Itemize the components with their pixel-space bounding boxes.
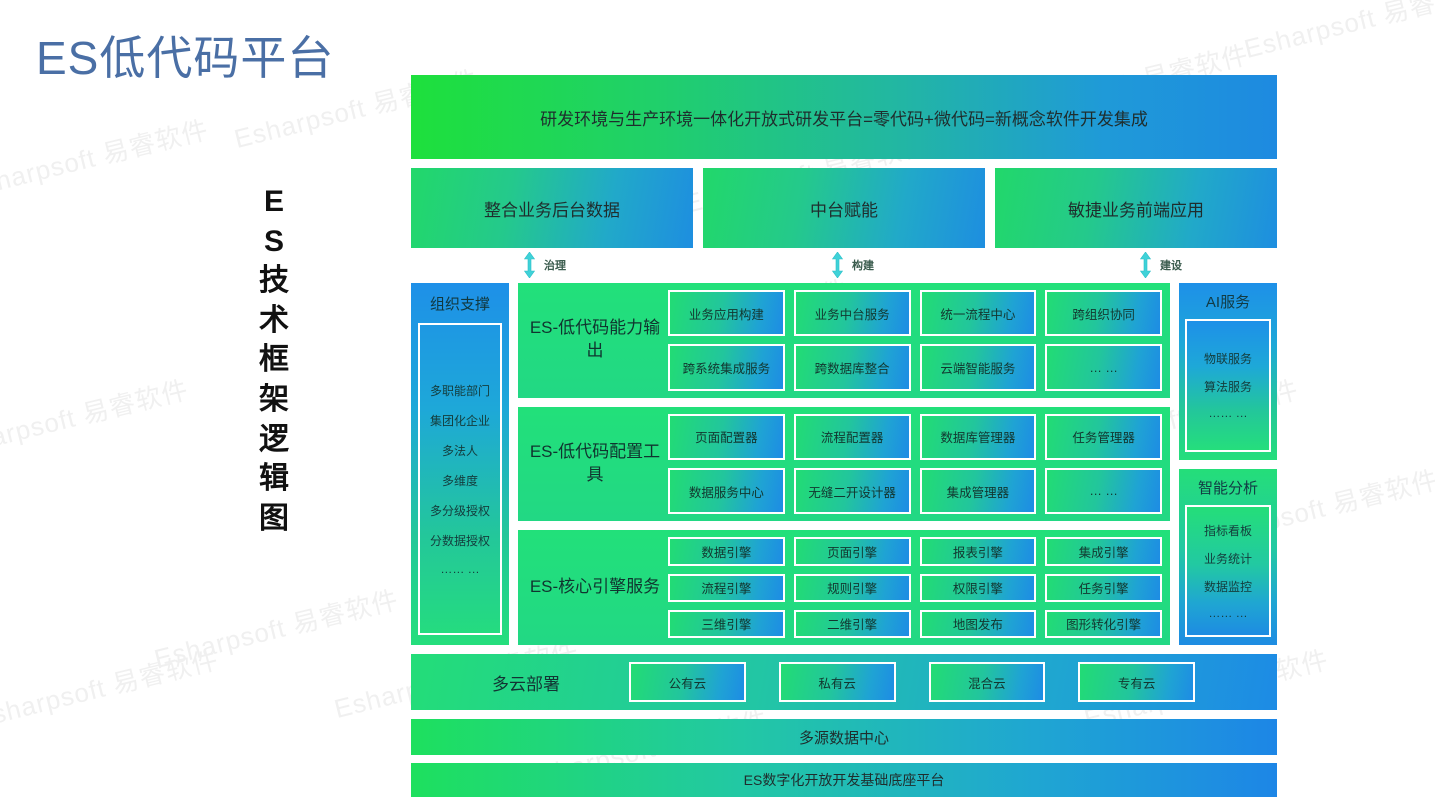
section-grid: 数据引擎页面引擎报表引擎集成引擎流程引擎规则引擎权限引擎任务引擎三维引擎二维引擎… <box>668 537 1162 638</box>
right-panel-item: …… … <box>1208 406 1247 420</box>
capability-cell[interactable]: 报表引擎 <box>920 537 1037 565</box>
section-2: ES-核心引擎服务数据引擎页面引擎报表引擎集成引擎流程引擎规则引擎权限引擎任务引… <box>518 530 1170 645</box>
capability-cell[interactable]: 集成引擎 <box>1045 537 1162 565</box>
vertical-caption-char: 框 <box>244 340 304 380</box>
watermark-text: Esharpsoft 易睿软件 <box>1240 0 1435 66</box>
vertical-caption-char: E <box>244 182 304 222</box>
capability-cell[interactable]: 流程引擎 <box>668 574 785 602</box>
capability-cell[interactable]: 集成管理器 <box>920 468 1037 514</box>
capability-cell[interactable]: 流程配置器 <box>794 414 911 460</box>
section-0: ES-低代码能力输出业务应用构建业务中台服务统一流程中心跨组织协同跨系统集成服务… <box>518 283 1170 398</box>
capability-cell[interactable]: 数据服务中心 <box>668 468 785 514</box>
vertical-caption-char: 辑 <box>244 459 304 499</box>
right-panel-0: AI服务物联服务算法服务…… … <box>1179 283 1277 460</box>
right-panel-item: 业务统计 <box>1204 550 1252 567</box>
top-banner: 研发环境与生产环境一体化开放式研发平台=零代码+微代码=新概念软件开发集成 <box>411 75 1277 159</box>
section-grid: 页面配置器流程配置器数据库管理器任务管理器数据服务中心无缝二开设计器集成管理器…… <box>668 414 1162 515</box>
watermark-text: Esharpsoft 易睿软件 <box>0 109 212 206</box>
capability-cell[interactable]: 跨数据库整合 <box>794 344 911 390</box>
multi-cloud-cells: 公有云私有云混合云专有云 <box>629 662 1265 702</box>
capability-cell[interactable]: 三维引擎 <box>668 610 785 638</box>
vertical-caption-char: 图 <box>244 499 304 539</box>
right-panel-items: 物联服务算法服务…… … <box>1185 319 1271 452</box>
section-label: ES-核心引擎服务 <box>526 537 668 638</box>
arrow-group-0: 治理 <box>523 250 566 280</box>
org-support-item: 多法人 <box>442 442 478 459</box>
cloud-cell[interactable]: 私有云 <box>779 662 896 702</box>
watermark-text: Esharpsoft 易睿软件 <box>150 579 402 676</box>
capability-cell[interactable]: 任务引擎 <box>1045 574 1162 602</box>
double-arrow-vertical-icon <box>523 252 536 278</box>
trio-row: 整合业务后台数据中台赋能敏捷业务前端应用 <box>411 168 1277 248</box>
capability-cell[interactable]: … … <box>1045 344 1162 390</box>
vertical-caption-char: 架 <box>244 380 304 420</box>
vertical-caption-char: 术 <box>244 301 304 341</box>
capability-cell[interactable]: 权限引擎 <box>920 574 1037 602</box>
org-support-item: 多职能部门 <box>430 382 490 399</box>
arrow-group-2: 建设 <box>1139 250 1182 280</box>
capability-cell[interactable]: 跨系统集成服务 <box>668 344 785 390</box>
right-panel-title: AI服务 <box>1206 291 1250 312</box>
capability-cell[interactable]: 页面引擎 <box>794 537 911 565</box>
org-support-panel: 组织支撑 多职能部门集团化企业多法人多维度多分级授权分数据授权…… … <box>411 283 509 645</box>
org-support-item: 集团化企业 <box>430 412 490 429</box>
right-panel-1: 智能分析指标看板业务统计数据监控…… … <box>1179 469 1277 646</box>
middle-region: 组织支撑 多职能部门集团化企业多法人多维度多分级授权分数据授权…… … ES-低… <box>411 283 1277 645</box>
capability-cell[interactable]: 地图发布 <box>920 610 1037 638</box>
section-row: 数据引擎页面引擎报表引擎集成引擎 <box>668 537 1162 565</box>
cloud-cell[interactable]: 专有云 <box>1078 662 1195 702</box>
right-side-panels: AI服务物联服务算法服务…… …智能分析指标看板业务统计数据监控…… … <box>1179 283 1277 645</box>
capability-cell[interactable]: 业务应用构建 <box>668 290 785 336</box>
capability-cell[interactable]: … … <box>1045 468 1162 514</box>
capability-cell[interactable]: 云端智能服务 <box>920 344 1037 390</box>
watermark-text: Esharpsoft 易睿软件 <box>0 369 192 466</box>
right-panel-item: 数据监控 <box>1204 578 1252 595</box>
section-row: 页面配置器流程配置器数据库管理器任务管理器 <box>668 414 1162 460</box>
data-center-bar: 多源数据中心 <box>411 719 1277 755</box>
section-label: ES-低代码能力输出 <box>526 290 668 391</box>
section-1: ES-低代码配置工具页面配置器流程配置器数据库管理器任务管理器数据服务中心无缝二… <box>518 407 1170 522</box>
arrow-label: 构建 <box>852 257 874 273</box>
capability-cell[interactable]: 图形转化引擎 <box>1045 610 1162 638</box>
multi-cloud-title: 多云部署 <box>423 670 629 695</box>
right-panel-item: 物联服务 <box>1204 350 1252 367</box>
vertical-caption-char: 逻 <box>244 420 304 460</box>
double-arrow-vertical-icon <box>1139 252 1152 278</box>
section-row: 流程引擎规则引擎权限引擎任务引擎 <box>668 574 1162 602</box>
capability-cell[interactable]: 业务中台服务 <box>794 290 911 336</box>
capability-cell[interactable]: 任务管理器 <box>1045 414 1162 460</box>
vertical-caption-char: 技 <box>244 261 304 301</box>
org-support-item: 多分级授权 <box>430 502 490 519</box>
org-support-item: …… … <box>440 562 479 576</box>
capability-sections: ES-低代码能力输出业务应用构建业务中台服务统一流程中心跨组织协同跨系统集成服务… <box>518 283 1170 645</box>
architecture-diagram: 研发环境与生产环境一体化开放式研发平台=零代码+微代码=新概念软件开发集成 整合… <box>411 75 1277 783</box>
capability-cell[interactable]: 数据引擎 <box>668 537 785 565</box>
arrow-group-1: 构建 <box>831 250 874 280</box>
capability-cell[interactable]: 二维引擎 <box>794 610 911 638</box>
trio-box-0[interactable]: 整合业务后台数据 <box>411 168 693 248</box>
watermark-text: Esharpsoft 易睿软件 <box>0 639 222 736</box>
trio-box-1[interactable]: 中台赋能 <box>703 168 985 248</box>
arrow-row: 治理构建建设 <box>411 250 1277 280</box>
base-platform-bar: ES数字化开放开发基础底座平台 <box>411 763 1277 797</box>
capability-cell[interactable]: 统一流程中心 <box>920 290 1037 336</box>
slide-root: Esharpsoft 易睿软件Esharpsoft 易睿软件Esharpsoft… <box>0 0 1435 808</box>
arrow-label: 治理 <box>544 257 566 273</box>
section-grid: 业务应用构建业务中台服务统一流程中心跨组织协同跨系统集成服务跨数据库整合云端智能… <box>668 290 1162 391</box>
right-panel-item: 指标看板 <box>1204 522 1252 539</box>
section-label: ES-低代码配置工具 <box>526 414 668 515</box>
capability-cell[interactable]: 跨组织协同 <box>1045 290 1162 336</box>
cloud-cell[interactable]: 公有云 <box>629 662 746 702</box>
org-support-title: 组织支撑 <box>430 293 490 314</box>
right-panel-items: 指标看板业务统计数据监控…… … <box>1185 505 1271 638</box>
vertical-caption: ES技术框架逻辑图 <box>244 182 304 538</box>
page-title: ES低代码平台 <box>36 22 334 88</box>
org-support-item: 多维度 <box>442 472 478 489</box>
capability-cell[interactable]: 数据库管理器 <box>920 414 1037 460</box>
cloud-cell[interactable]: 混合云 <box>929 662 1046 702</box>
capability-cell[interactable]: 无缝二开设计器 <box>794 468 911 514</box>
section-row: 三维引擎二维引擎地图发布图形转化引擎 <box>668 610 1162 638</box>
right-panel-title: 智能分析 <box>1198 477 1258 498</box>
org-support-item: 分数据授权 <box>430 532 490 549</box>
right-panel-item: 算法服务 <box>1204 378 1252 395</box>
multi-cloud-bar: 多云部署 公有云私有云混合云专有云 <box>411 654 1277 710</box>
section-row: 跨系统集成服务跨数据库整合云端智能服务… … <box>668 344 1162 390</box>
trio-box-2[interactable]: 敏捷业务前端应用 <box>995 168 1277 248</box>
section-row: 业务应用构建业务中台服务统一流程中心跨组织协同 <box>668 290 1162 336</box>
capability-cell[interactable]: 页面配置器 <box>668 414 785 460</box>
org-support-items: 多职能部门集团化企业多法人多维度多分级授权分数据授权…… … <box>418 323 502 635</box>
vertical-caption-char: S <box>244 222 304 262</box>
section-row: 数据服务中心无缝二开设计器集成管理器… … <box>668 468 1162 514</box>
double-arrow-vertical-icon <box>831 252 844 278</box>
right-panel-item: …… … <box>1208 606 1247 620</box>
arrow-label: 建设 <box>1160 257 1182 273</box>
capability-cell[interactable]: 规则引擎 <box>794 574 911 602</box>
